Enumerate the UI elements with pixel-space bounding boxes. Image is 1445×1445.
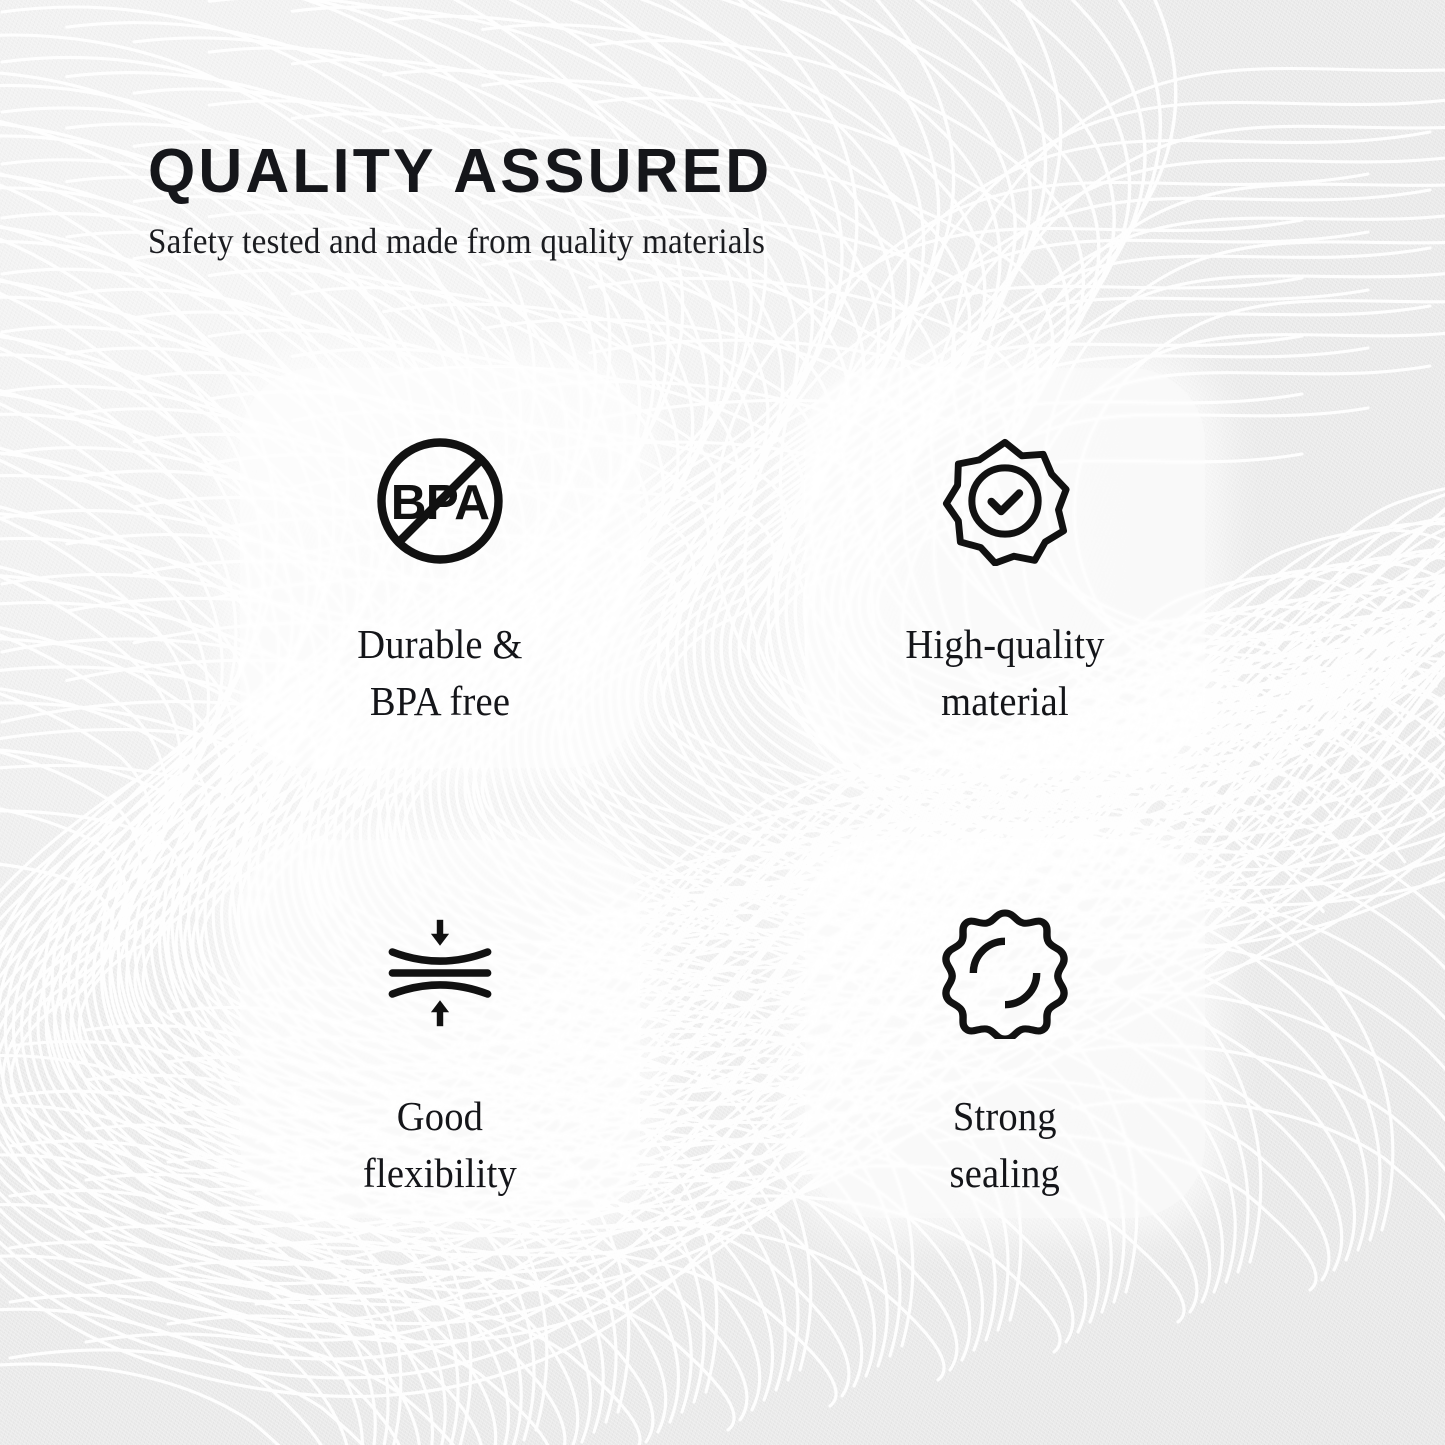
bpa-free-icon: BPA (365, 426, 515, 576)
feature-card-label: Strong sealing (950, 1088, 1060, 1201)
page-title: QUALITY ASSURED (148, 140, 1275, 203)
feature-card-label: Durable & BPA free (357, 616, 522, 729)
seal-scallop-icon (930, 898, 1080, 1048)
page-subtitle: Safety tested and made from quality mate… (148, 223, 1206, 261)
feature-label-line-2: flexibility (363, 1145, 517, 1202)
feature-card-high-quality-material: High-quality material (805, 368, 1205, 768)
feature-label-line-2: material (905, 673, 1104, 730)
feature-label-line-2: BPA free (357, 673, 522, 730)
feature-label-line-2: sealing (950, 1145, 1060, 1202)
feature-label-line-1: High-quality (905, 621, 1104, 667)
feature-card-good-flexibility: Good flexibility (240, 840, 640, 1218)
feature-label-line-1: Good (397, 1093, 483, 1139)
feature-card-durable-bpa-free: BPA Durable & BPA free (240, 368, 640, 768)
quality-assured-infographic: QUALITY ASSURED Safety tested and made f… (0, 0, 1445, 1445)
header: QUALITY ASSURED Safety tested and made f… (148, 140, 1298, 261)
feature-card-label: High-quality material (905, 616, 1104, 729)
svg-text:BPA: BPA (391, 475, 490, 530)
feature-card-label: Good flexibility (363, 1088, 517, 1201)
feature-grid: BPA Durable & BPA free High-quality mate… (240, 368, 1205, 1218)
feature-label-line-1: Durable & (357, 621, 522, 667)
feature-card-strong-sealing: Strong sealing (805, 840, 1205, 1218)
flexibility-compress-icon (365, 898, 515, 1048)
feature-label-line-1: Strong (953, 1093, 1057, 1139)
quality-badge-check-icon (930, 426, 1080, 576)
